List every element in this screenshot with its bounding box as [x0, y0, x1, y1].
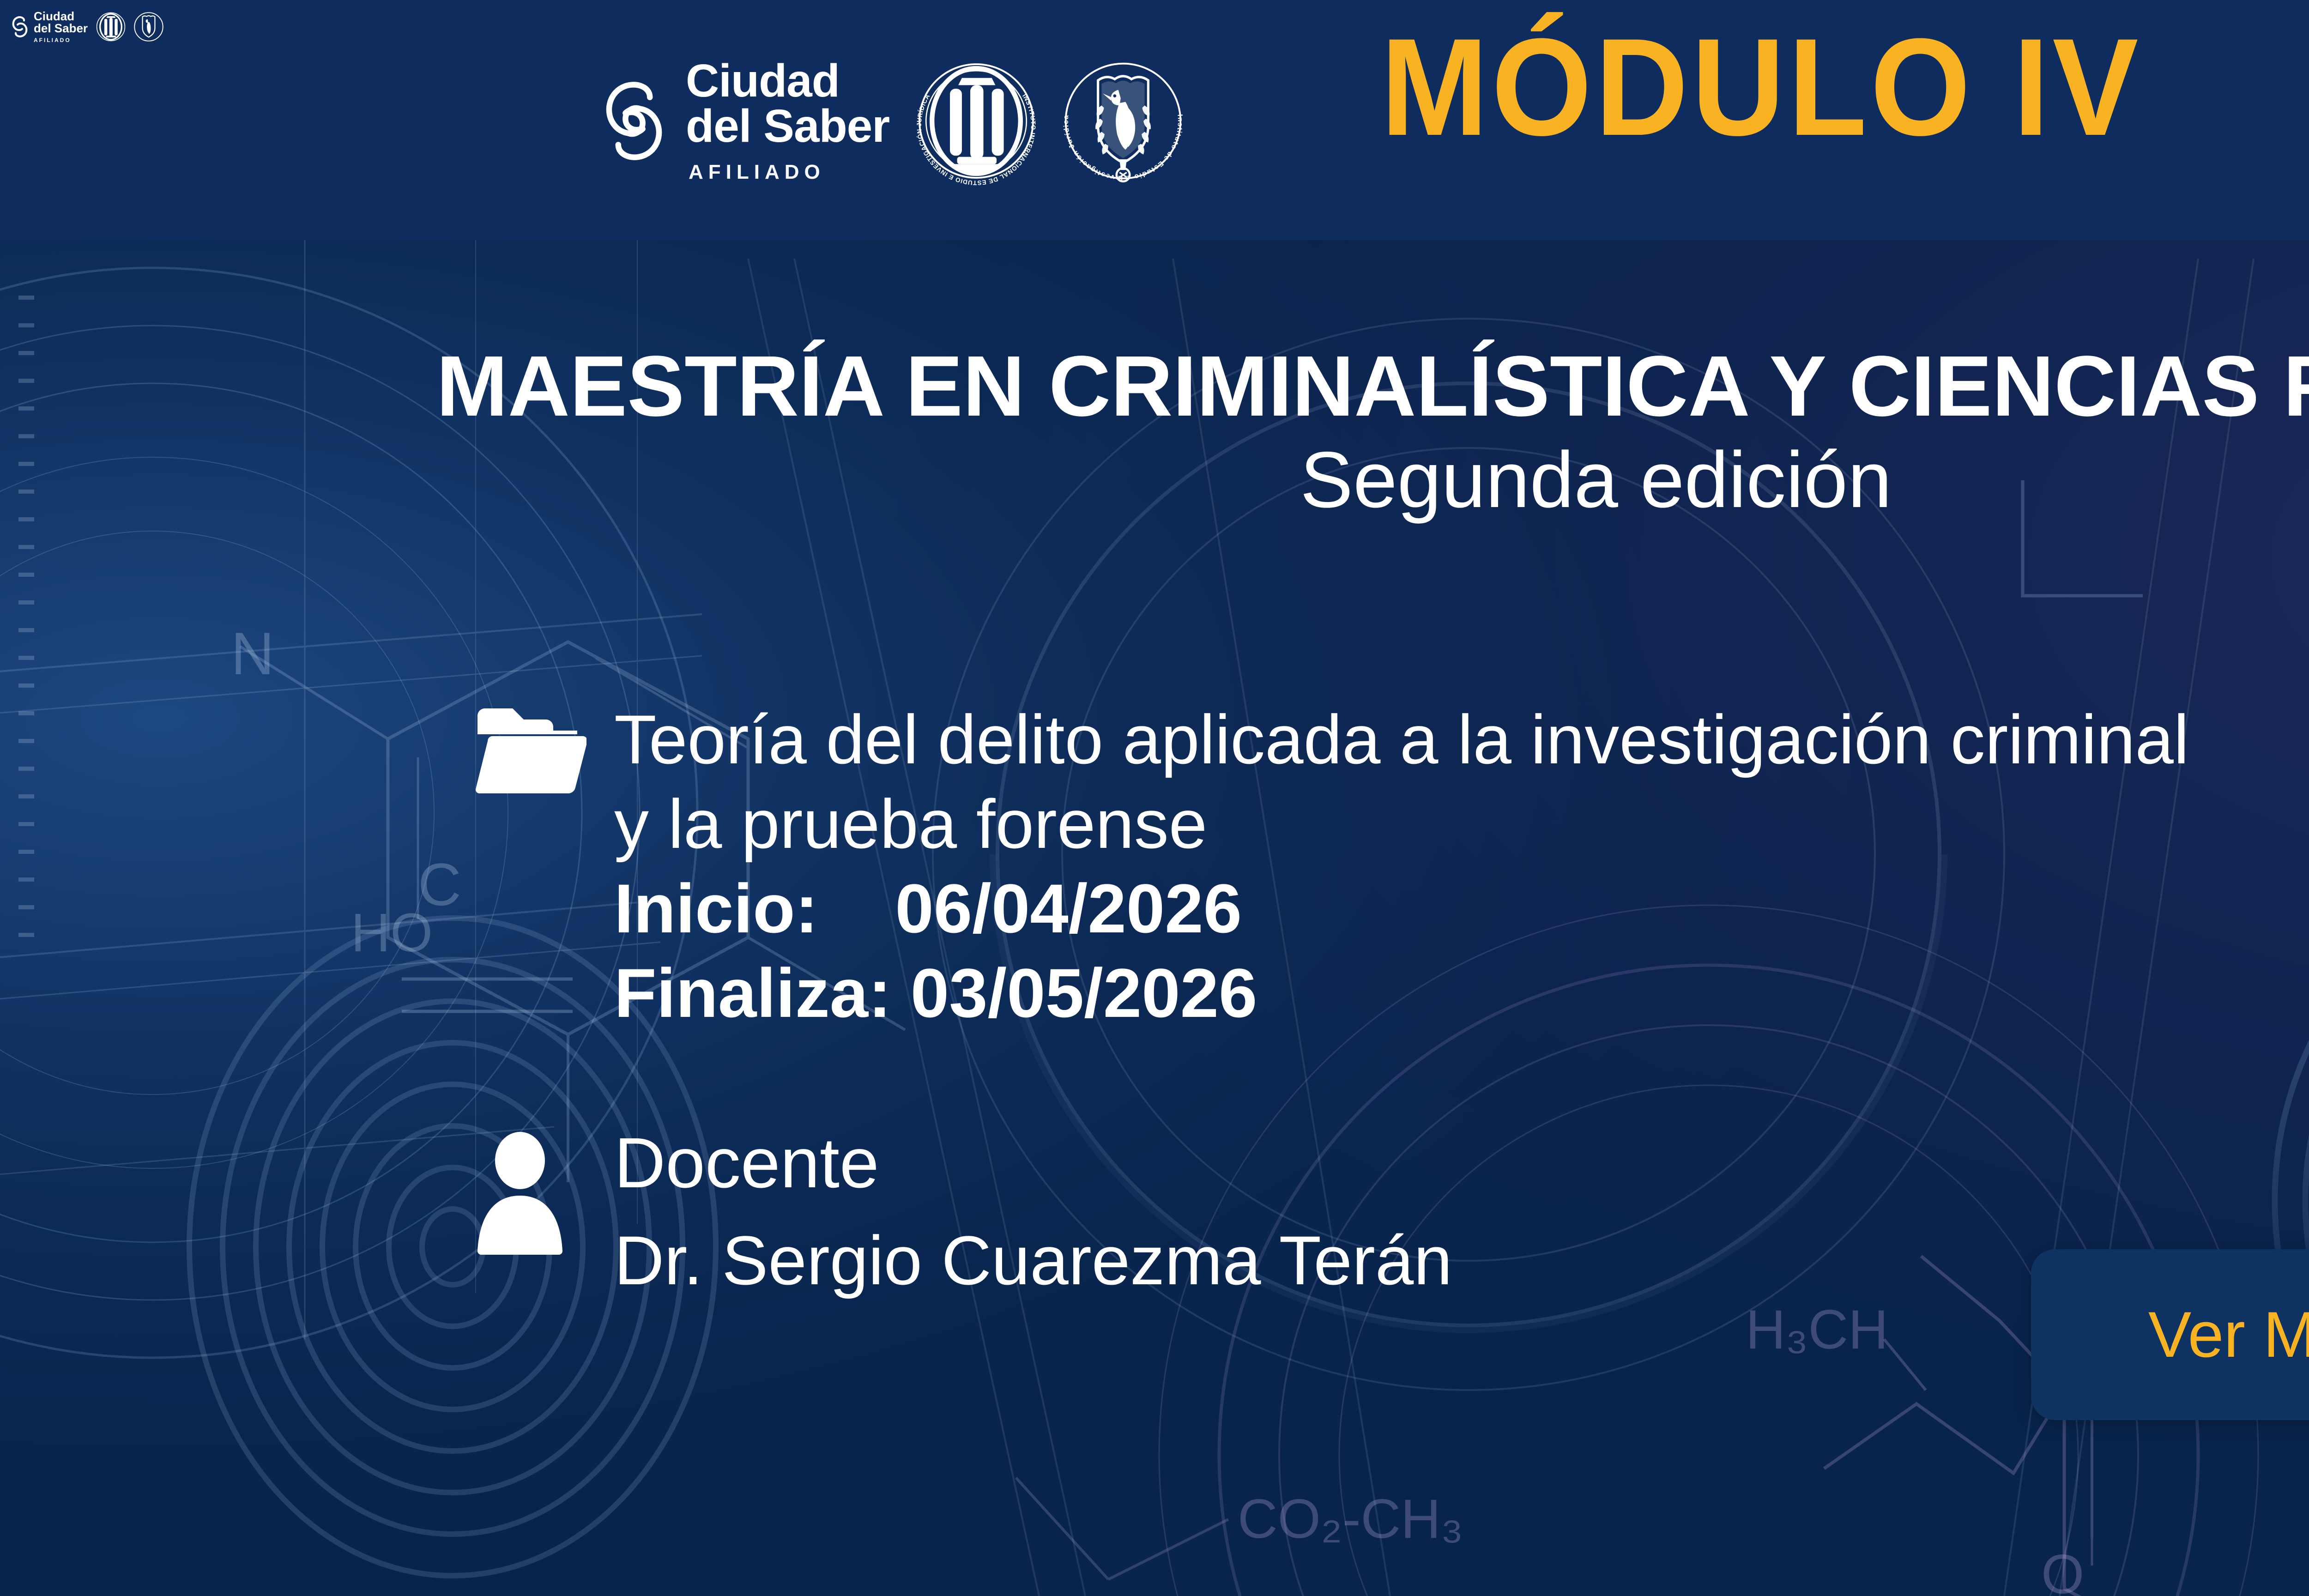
instructor-name: Dr. Sergio Cuarezma Terán: [614, 1215, 2189, 1306]
decor-label-N: N: [231, 620, 274, 687]
logo-ciudad-del-saber: Ciudad del Saber AFILIADO: [598, 58, 889, 184]
ieij-bird-seal-icon: Instituto de Estudio e Investigación Jur…: [1063, 54, 1183, 188]
mini-iinej-seal-icon: [96, 10, 126, 43]
mini-logo-line-2: del Saber: [34, 22, 88, 34]
mini-logo-ciudad-del-saber: Ciudad del Saber AFILIADO: [10, 10, 88, 43]
logo-wordmark: Ciudad del Saber AFILIADO: [686, 58, 889, 184]
course-row: Teoría del delito aplicada a la investig…: [476, 697, 2189, 1035]
svg-text:• IINEJ •: • IINEJ •: [916, 54, 919, 56]
instructor-row: Docente Dr. Sergio Cuarezma Terán: [476, 1121, 2189, 1306]
course-text: Teoría del delito aplicada a la investig…: [614, 697, 2189, 1035]
heading-block: MAESTRÍA EN CRIMINALÍSTICA Y CIENCIAS FO…: [0, 342, 2309, 525]
page-title: MAESTRÍA EN CRIMINALÍSTICA Y CIENCIAS FO…: [0, 342, 2309, 431]
course-end-date: Finaliza: 03/05/2026: [614, 951, 2189, 1035]
decor-label-O: O: [2041, 1543, 2084, 1596]
header-bar: Ciudad del Saber AFILIADO: [0, 0, 2309, 240]
instructor-text: Docente Dr. Sergio Cuarezma Terán: [614, 1121, 2189, 1306]
page-subtitle: Segunda edición: [0, 435, 2309, 525]
logo-line-1: Ciudad: [686, 58, 889, 103]
mini-logo-tagline: AFILIADO: [34, 37, 88, 43]
header-logo-cluster: Ciudad del Saber AFILIADO: [598, 52, 1183, 190]
promo-banner: N C HO H₃CH: [0, 0, 2309, 1596]
iinej-seal-icon: INSTITUTO INTERNACIONAL DE ESTUDIO E INV…: [916, 54, 1036, 188]
mini-ieij-bird-seal-icon: [134, 10, 163, 43]
folder-icon: [476, 707, 586, 797]
course-info: Teoría del delito aplicada a la investig…: [476, 697, 2189, 1306]
instructor-label: Docente: [614, 1121, 2189, 1205]
decor-label-HO: HO: [351, 902, 433, 963]
logo-tagline: AFILIADO: [689, 161, 889, 184]
ver-modulo-button[interactable]: Ver Módulo: [2031, 1249, 2309, 1420]
course-name-line-1: Teoría del delito aplicada a la investig…: [614, 697, 2189, 782]
logo-line-2: del Saber: [686, 103, 889, 149]
person-icon: [476, 1130, 564, 1255]
ver-modulo-label: Ver Módulo: [2148, 1297, 2309, 1372]
course-name-line-2: y la prueba forense: [614, 782, 2189, 866]
decor-label-H3CH: H₃CH: [1746, 1299, 1888, 1360]
mini-wordmark: Ciudad del Saber AFILIADO: [34, 10, 88, 43]
seal-bottom-text: • IINEJ •: [916, 54, 919, 56]
mini-logo-strip: Ciudad del Saber AFILIADO: [10, 6, 163, 47]
instructor-icon-slot: [476, 1121, 614, 1255]
course-icon-slot: [476, 697, 614, 797]
course-start-date: Inicio: 06/04/2026: [614, 866, 2189, 951]
mini-logo-line-1: Ciudad: [34, 10, 88, 22]
decor-label-CO2CH3-a: CO₂-CH₃: [1238, 1488, 1463, 1550]
module-title: MÓDULO IV: [1381, 18, 2142, 156]
swirl-logo-icon: [598, 76, 670, 166]
mini-swirl-logo-icon: [10, 15, 30, 39]
decor-label-C: C: [418, 851, 461, 918]
